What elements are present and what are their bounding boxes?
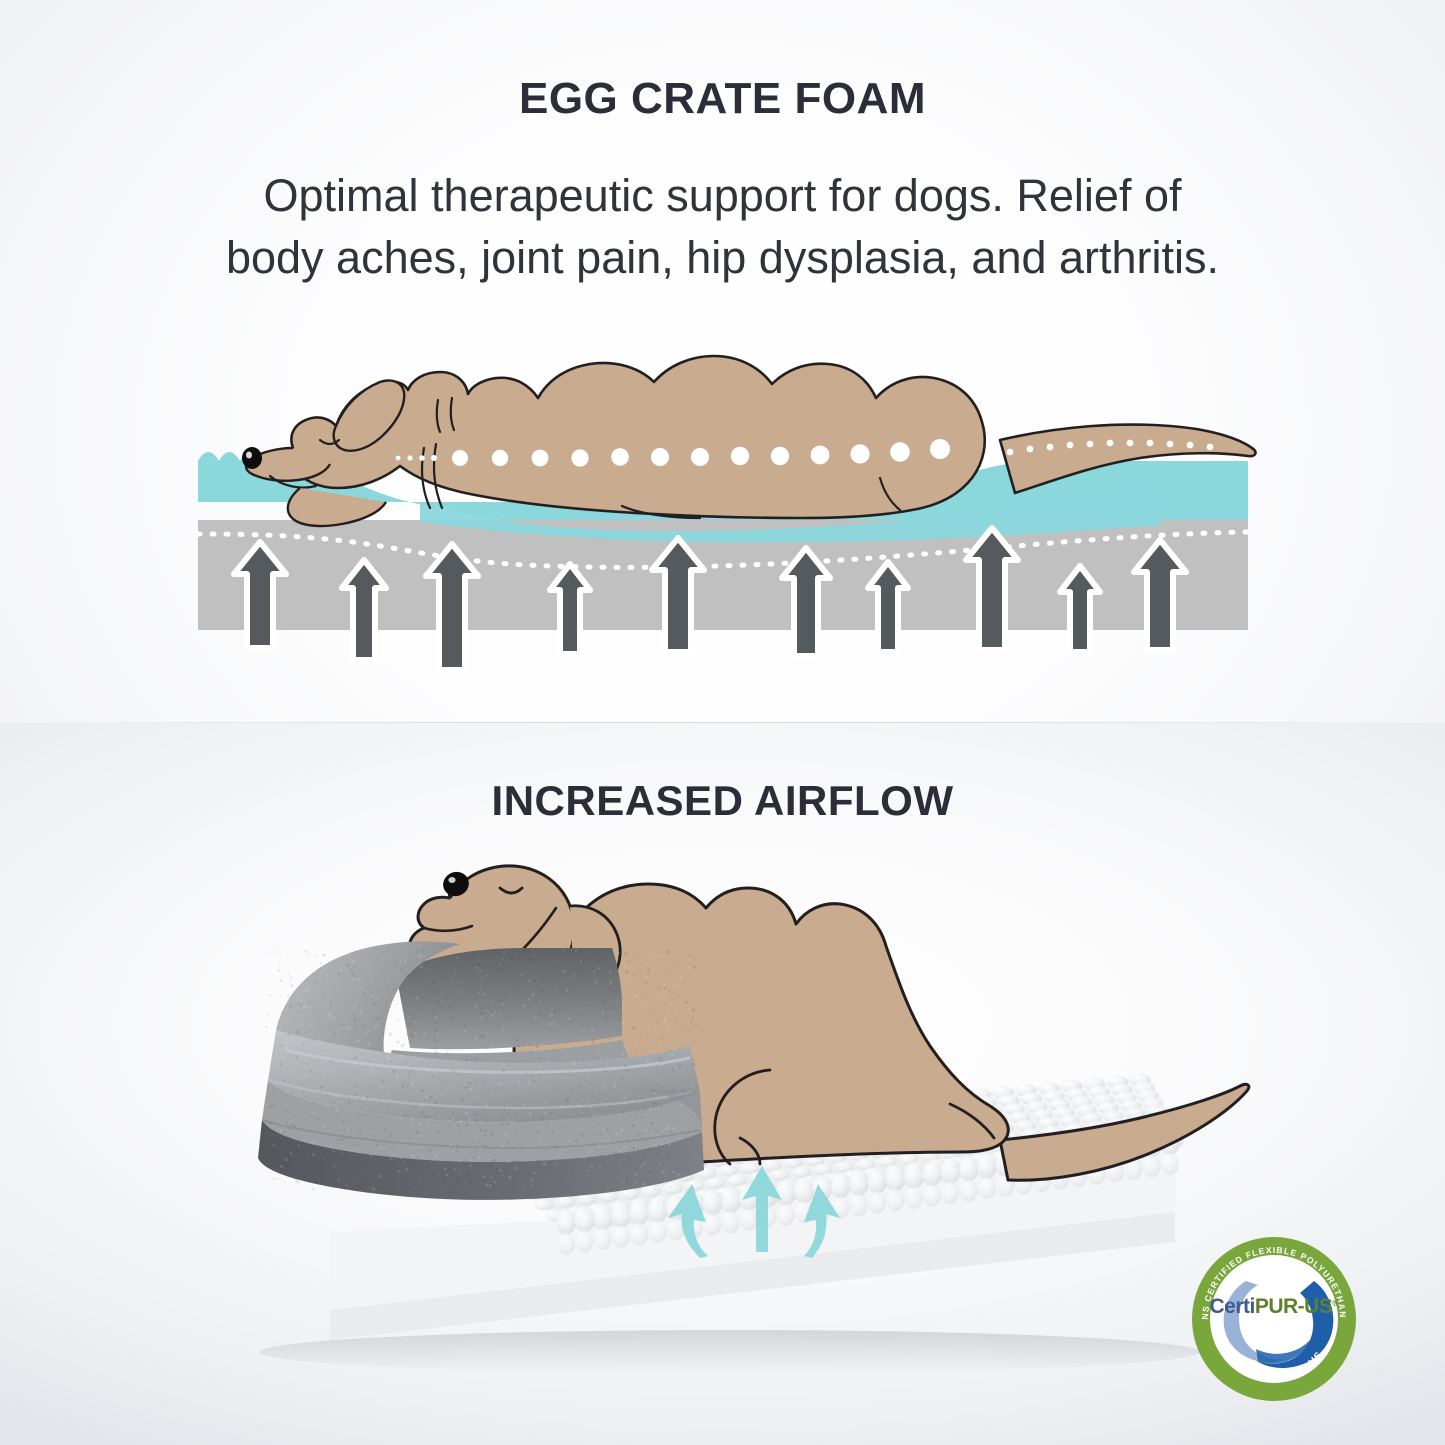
subtitle-line-1: Optimal therapeutic support for dogs. Re… bbox=[58, 165, 1388, 227]
section-title-increased-airflow: INCREASED AIRFLOW bbox=[0, 777, 1445, 825]
subtitle-line-2: body aches, joint pain, hip dysplasia, a… bbox=[58, 227, 1388, 289]
section-title-egg-crate-foam: EGG CRATE FOAM bbox=[0, 74, 1445, 124]
bed-ground-shadow bbox=[260, 1330, 1200, 1374]
product-infographic: EGG CRATE FOAM Optimal therapeutic suppo… bbox=[0, 0, 1445, 1445]
section-egg-crate-foam: EGG CRATE FOAM Optimal therapeutic suppo… bbox=[0, 0, 1445, 723]
certipur-us-badge: CertiPUR-US® CONTAINS CERTIFIED FLEXIBLE… bbox=[1190, 1235, 1358, 1403]
certipur-wordmark: CertiPUR-US® bbox=[1209, 1295, 1339, 1318]
section-subtitle-egg-crate-foam: Optimal therapeutic support for dogs. Re… bbox=[58, 165, 1388, 289]
section-increased-airflow: INCREASED AIRFLOW bbox=[0, 723, 1445, 1445]
egg-crate-cross-section-illustration bbox=[0, 330, 1445, 670]
